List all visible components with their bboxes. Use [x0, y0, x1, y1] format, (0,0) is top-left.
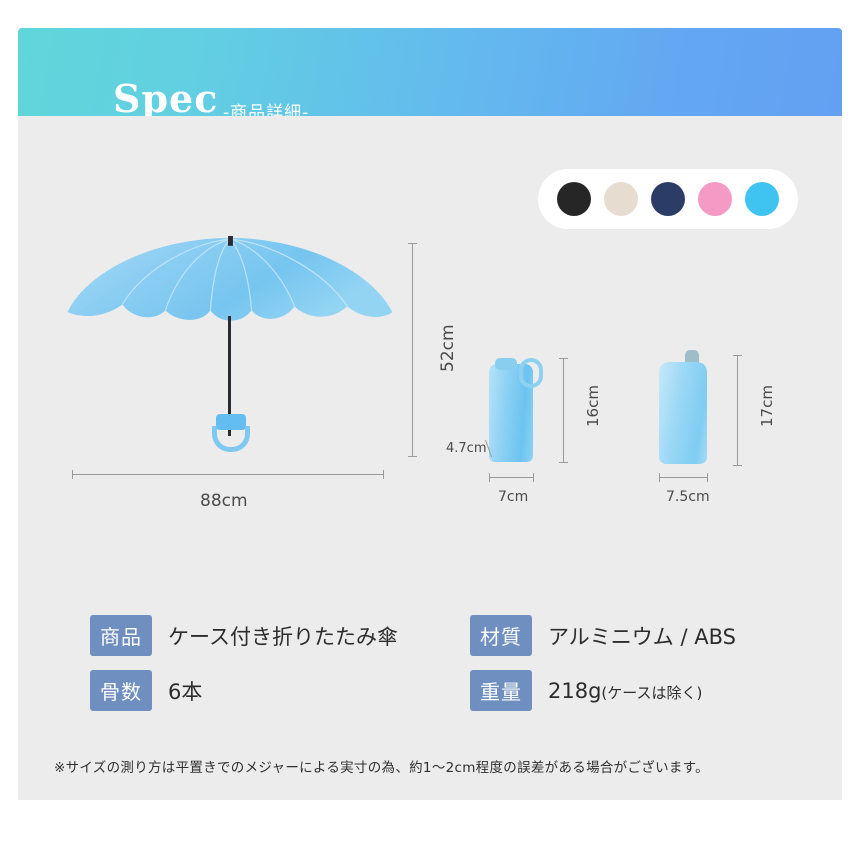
spec-key-ribs: 骨数: [90, 670, 152, 711]
folded-umbrella-cap: [495, 358, 517, 370]
dim-cap-top-17: [733, 355, 742, 356]
dim-cap-right-7: [533, 473, 534, 482]
spec-key-material: 材質: [470, 615, 532, 656]
dim-cap-bottom-52: [408, 456, 417, 457]
dim-cap-bottom-16: [559, 462, 568, 463]
dim-line-folded-height: [563, 358, 564, 462]
spec-value-material: アルミニウム / ABS: [548, 621, 736, 651]
dim-label-16cm: 16cm: [584, 385, 602, 427]
dim-cap-top-16: [559, 358, 568, 359]
dim-cap-right-88: [383, 470, 384, 479]
swatch-navy[interactable]: [651, 182, 685, 216]
umbrella-handle-loop: [212, 426, 250, 452]
swatch-sky-blue[interactable]: [745, 182, 779, 216]
swatch-pink[interactable]: [698, 182, 732, 216]
folded-umbrella-illustration: [489, 352, 545, 462]
header-banner: Spec -商品詳細-: [18, 28, 842, 116]
spec-row-material: 材質 アルミニウム / ABS: [470, 615, 736, 656]
dim-cap-left-7: [489, 473, 490, 482]
umbrella-illustration: [60, 236, 400, 456]
pouch-illustration: [659, 348, 719, 466]
spec-page: Spec -商品詳細-: [0, 0, 860, 860]
spec-row-product: 商品 ケース付き折りたたみ傘: [90, 615, 398, 656]
dim-cap-left-88: [72, 470, 73, 479]
color-swatch-card: [538, 169, 798, 229]
swatch-beige[interactable]: [604, 182, 638, 216]
dim-label-52cm: 52cm: [438, 324, 458, 372]
size-note: ※サイズの測り方は平置きでのメジャーによる実寸の為、約1～2cm程度の誤差がある…: [54, 756, 814, 776]
dim-line-umbrella-width: [72, 474, 383, 475]
page-title: Spec: [113, 76, 218, 121]
dim-label-88cm: 88cm: [200, 491, 248, 511]
spec-row-weight: 重量 218g(ケースは除く): [470, 670, 702, 711]
dim-label-7cm: 7cm: [498, 489, 528, 505]
dim-cap-bottom-17: [733, 465, 742, 466]
top-margin: [0, 0, 860, 28]
spec-value-weight-suffix: (ケースは除く): [601, 684, 702, 702]
bottom-margin: [0, 800, 860, 860]
dim-line-pouch-width: [659, 477, 707, 478]
spec-value-weight: 218g(ケースは除く): [548, 679, 702, 703]
dim-cap-top-52: [408, 243, 417, 244]
dim-cap-right-7.5: [707, 473, 708, 482]
pouch-body: [659, 362, 707, 464]
spec-key-weight: 重量: [470, 670, 532, 711]
folded-umbrella-strap: [519, 358, 543, 388]
dim-label-17cm: 17cm: [758, 385, 776, 427]
spec-value-product: ケース付き折りたたみ傘: [168, 621, 398, 651]
spec-value-weight-number: 218g: [548, 679, 601, 703]
dim-line-umbrella-height: [412, 243, 413, 456]
dim-label-7.5cm: 7.5cm: [666, 489, 710, 505]
spec-key-product: 商品: [90, 615, 152, 656]
umbrella-canopy-icon: [60, 236, 400, 326]
swatch-black[interactable]: [557, 182, 591, 216]
dim-line-pouch-height: [737, 355, 738, 465]
spec-row-ribs: 骨数 6本: [90, 670, 202, 711]
spec-value-ribs: 6本: [168, 676, 202, 706]
dim-label-4.7cm: 4.7cm: [446, 441, 487, 456]
dim-line-folded-width: [489, 477, 533, 478]
dim-cap-left-7.5: [659, 473, 660, 482]
